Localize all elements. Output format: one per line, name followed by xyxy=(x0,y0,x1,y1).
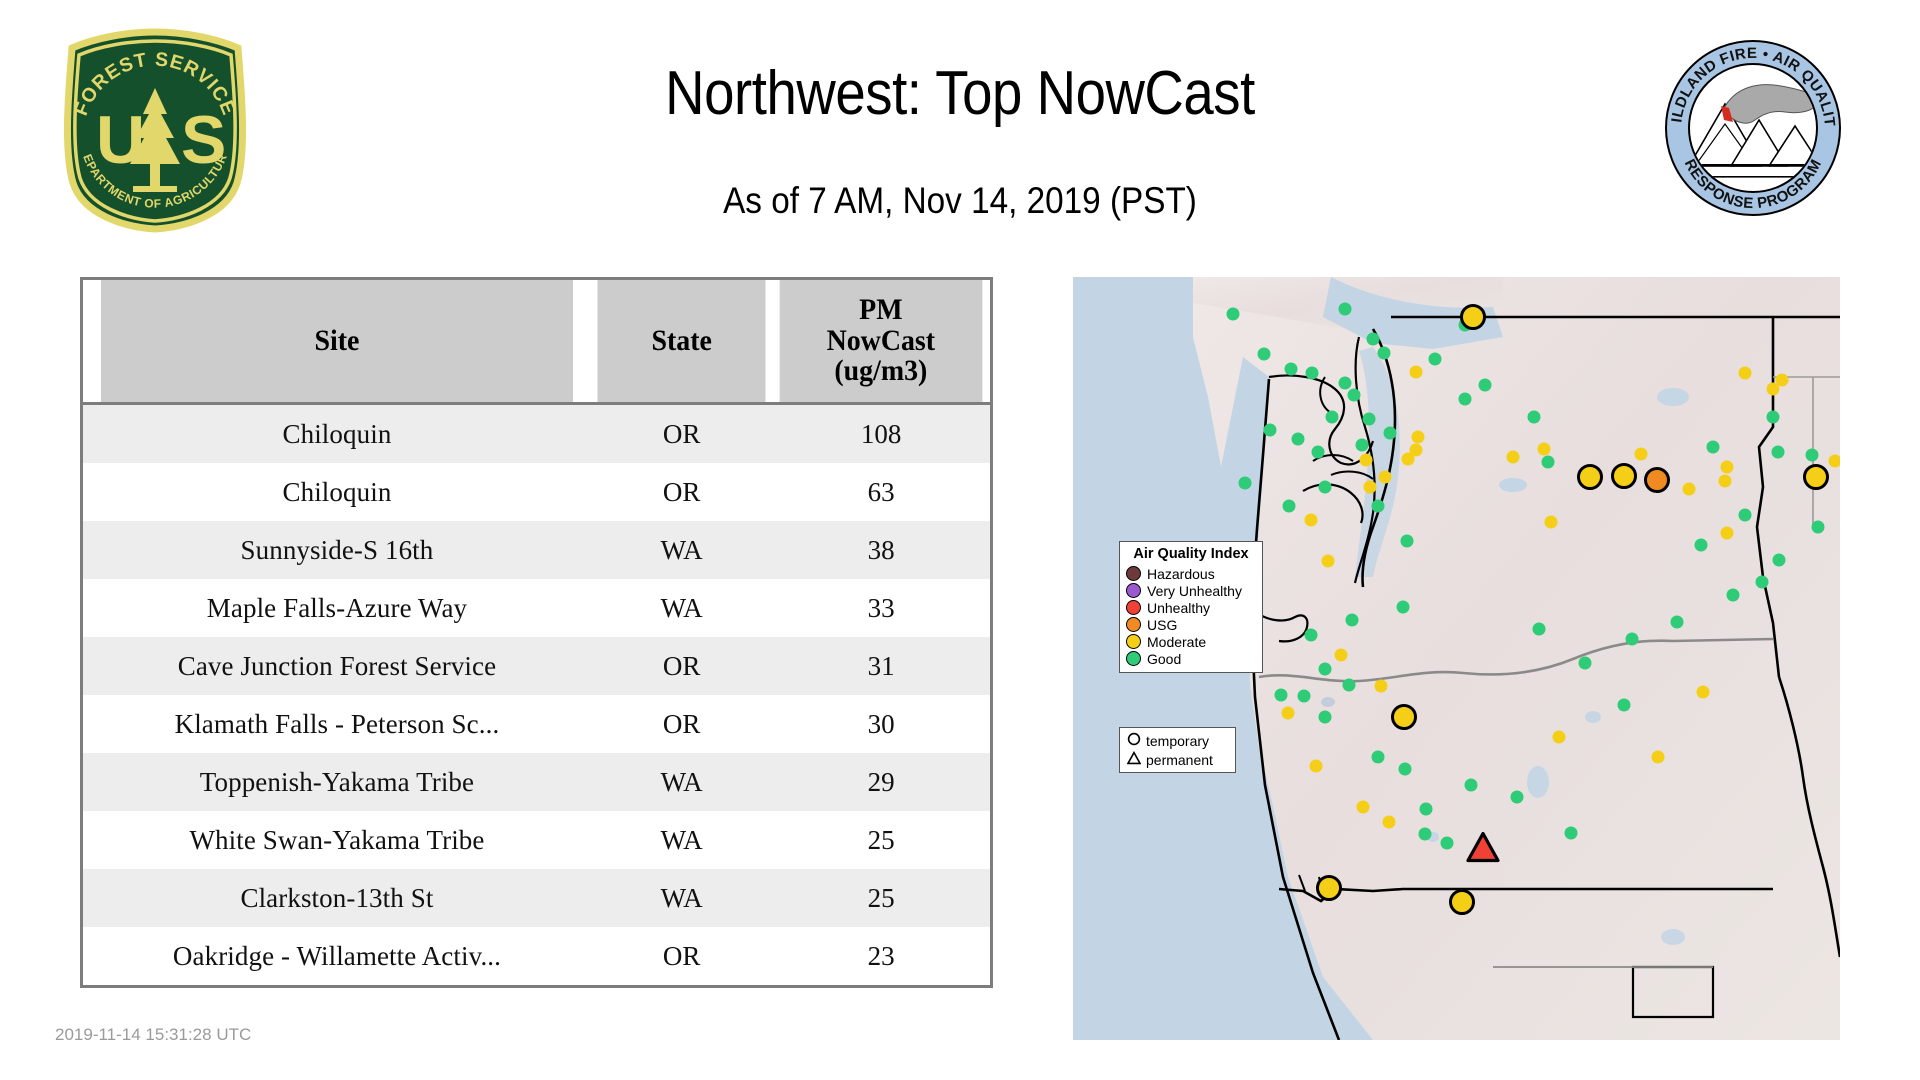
map-monitor-dot xyxy=(1326,411,1339,424)
map-monitor-dot xyxy=(1367,333,1380,346)
aqi-legend-label: Hazardous xyxy=(1147,566,1215,582)
map-monitor-dot xyxy=(1363,413,1376,426)
map-monitor-dot xyxy=(1626,633,1639,646)
map-monitor-dot xyxy=(1322,555,1335,568)
cell-state: OR xyxy=(591,463,772,521)
cell-state: OR xyxy=(591,695,772,753)
map-monitor-dot xyxy=(1776,374,1789,387)
aqi-legend-row: USG xyxy=(1126,616,1256,633)
map-monitor-dot xyxy=(1545,516,1558,529)
map-monitor-dot xyxy=(1285,363,1298,376)
cell-pm: 30 xyxy=(772,695,990,753)
map-monitor-dot xyxy=(1812,521,1825,534)
cell-site: Klamath Falls - Peterson Sc... xyxy=(83,695,591,753)
aqi-swatch-icon xyxy=(1126,600,1141,615)
map-monitor-dot xyxy=(1283,500,1296,513)
table-row: Toppenish-Yakama TribeWA29 xyxy=(83,753,990,811)
monitor-type-legend: temporary permanent xyxy=(1119,727,1236,773)
cell-site: Toppenish-Yakama Tribe xyxy=(83,753,591,811)
map-monitor-dot xyxy=(1383,816,1396,829)
aqi-legend-row: Good xyxy=(1126,650,1256,667)
map-monitor-dot xyxy=(1292,433,1305,446)
top-nowcast-table: Site State PM NowCast (ug/m3) ChiloquinO… xyxy=(80,277,993,988)
cell-state: OR xyxy=(591,404,772,464)
aqi-legend-label: Good xyxy=(1147,651,1181,667)
map-top-site-marker[interactable] xyxy=(1803,464,1829,490)
aqi-legend-row: Very Unhealthy xyxy=(1126,582,1256,599)
map-monitor-dot xyxy=(1739,367,1752,380)
map-monitor-dot xyxy=(1806,449,1819,462)
map-monitor-dot xyxy=(1707,441,1720,454)
map-monitor-dot xyxy=(1298,690,1311,703)
aqi-legend-label: Unhealthy xyxy=(1147,600,1210,616)
map-monitor-dot xyxy=(1372,751,1385,764)
cell-pm: 63 xyxy=(772,463,990,521)
aqi-legend-label: USG xyxy=(1147,617,1177,633)
map-monitor-dot xyxy=(1697,686,1710,699)
aqi-legend-label: Very Unhealthy xyxy=(1147,583,1242,599)
cell-site: Cave Junction Forest Service xyxy=(83,637,591,695)
map-monitor-dot xyxy=(1282,707,1295,720)
map-top-site-marker[interactable] xyxy=(1316,875,1342,901)
map-top-site-marker[interactable] xyxy=(1391,704,1417,730)
map-monitor-dot xyxy=(1441,837,1454,850)
column-header-pm-line3: (ug/m3) xyxy=(784,356,979,387)
map-monitor-dot xyxy=(1227,308,1240,321)
page-title: Northwest: Top NowCast xyxy=(115,58,1805,129)
map-monitor-dot xyxy=(1542,456,1555,469)
map-monitor-dot xyxy=(1410,444,1423,457)
cell-state: WA xyxy=(591,521,772,579)
map-monitor-dot xyxy=(1346,614,1359,627)
map-monitor-dot xyxy=(1829,455,1841,468)
map-monitor-dot xyxy=(1339,303,1352,316)
page-subtitle: As of 7 AM, Nov 14, 2019 (PST) xyxy=(96,180,1824,222)
table-row: Maple Falls-Azure WayWA33 xyxy=(83,579,990,637)
map-monitor-dot xyxy=(1429,353,1442,366)
aqi-legend-label: Moderate xyxy=(1147,634,1206,650)
map-monitor-dot xyxy=(1379,471,1392,484)
map-monitor-dot xyxy=(1683,483,1696,496)
map-monitor-dot xyxy=(1319,663,1332,676)
cell-pm: 108 xyxy=(772,404,990,464)
cell-site: Sunnyside-S 16th xyxy=(83,521,591,579)
map-monitor-dot xyxy=(1339,377,1352,390)
map-monitor-dot xyxy=(1618,699,1631,712)
cell-site: White Swan-Yakama Tribe xyxy=(83,811,591,869)
cell-pm: 23 xyxy=(772,927,990,985)
map-monitor-dot xyxy=(1635,448,1648,461)
map-monitor-dot xyxy=(1419,828,1432,841)
map-monitor-dot xyxy=(1511,791,1524,804)
map-top-site-marker[interactable] xyxy=(1611,463,1637,489)
cell-site: Maple Falls-Azure Way xyxy=(83,579,591,637)
triangle-icon xyxy=(1125,751,1142,768)
map-monitor-dot xyxy=(1348,389,1361,402)
map-monitor-dot xyxy=(1767,411,1780,424)
map-monitor-dot xyxy=(1756,576,1769,589)
map-monitor-dot xyxy=(1721,461,1734,474)
generation-timestamp: 2019-11-14 15:31:28 UTC xyxy=(55,1025,251,1045)
map-monitor-dot xyxy=(1378,347,1391,360)
map-monitor-dot xyxy=(1507,451,1520,464)
cell-site: Oakridge - Willamette Activ... xyxy=(83,927,591,985)
cell-pm: 25 xyxy=(772,811,990,869)
map-monitor-dot xyxy=(1739,509,1752,522)
map-monitor-dot xyxy=(1420,803,1433,816)
map-monitor-dot xyxy=(1372,500,1385,513)
map-monitor-dot xyxy=(1305,629,1318,642)
aqi-swatch-icon xyxy=(1126,651,1141,666)
aqi-swatch-icon xyxy=(1126,634,1141,649)
map-monitor-dot xyxy=(1652,751,1665,764)
map-monitor-dot xyxy=(1533,623,1546,636)
table-header-row: Site State PM NowCast (ug/m3) xyxy=(83,280,990,404)
aqi-legend: Air Quality Index HazardousVery Unhealth… xyxy=(1119,541,1263,673)
map-monitor-dot xyxy=(1401,535,1414,548)
map-monitor-dot xyxy=(1695,539,1708,552)
aqi-swatch-icon xyxy=(1126,566,1141,581)
map-monitor-dot xyxy=(1410,366,1423,379)
table-row: Clarkston-13th StWA25 xyxy=(83,869,990,927)
map-monitor-dot xyxy=(1579,657,1592,670)
map-monitor-dot xyxy=(1364,481,1377,494)
map-monitor-dot xyxy=(1384,427,1397,440)
column-header-pm-line2: NowCast xyxy=(784,326,979,357)
table-row: Klamath Falls - Peterson Sc...OR30 xyxy=(83,695,990,753)
cell-site: Clarkston-13th St xyxy=(83,869,591,927)
map-monitor-dot xyxy=(1719,475,1732,488)
map-monitor-dot xyxy=(1773,554,1786,567)
map-monitor-dot xyxy=(1360,454,1373,467)
cell-pm: 38 xyxy=(772,521,990,579)
map-monitor-dot xyxy=(1375,680,1388,693)
cell-state: WA xyxy=(591,579,772,637)
map-monitor-dot xyxy=(1264,424,1277,437)
map-top-site-marker[interactable] xyxy=(1644,467,1670,493)
map-monitor-dot xyxy=(1671,616,1684,629)
map-top-site-marker[interactable] xyxy=(1577,464,1603,490)
map-monitor-dot xyxy=(1275,689,1288,702)
table-row: Sunnyside-S 16thWA38 xyxy=(83,521,990,579)
legend-row-permanent: permanent xyxy=(1125,750,1230,769)
northwest-aqi-map[interactable]: Air Quality Index HazardousVery Unhealth… xyxy=(1073,277,1840,1040)
map-monitor-dot xyxy=(1479,379,1492,392)
aqi-swatch-icon xyxy=(1126,617,1141,632)
map-monitor-dot xyxy=(1465,779,1478,792)
cell-pm: 29 xyxy=(772,753,990,811)
map-monitor-dot xyxy=(1319,711,1332,724)
cell-pm: 33 xyxy=(772,579,990,637)
map-monitor-dot xyxy=(1565,827,1578,840)
cell-state: OR xyxy=(591,927,772,985)
map-monitor-dot xyxy=(1397,601,1410,614)
map-monitor-dot xyxy=(1772,446,1785,459)
column-header-pm-nowcast: PM NowCast (ug/m3) xyxy=(780,280,982,404)
cell-state: WA xyxy=(591,869,772,927)
column-header-pm-line1: PM xyxy=(784,295,979,326)
cell-site: Chiloquin xyxy=(83,404,591,464)
map-monitor-dot xyxy=(1553,731,1566,744)
map-monitor-dot xyxy=(1335,649,1348,662)
map-top-site-marker[interactable] xyxy=(1460,304,1486,330)
map-monitor-dot xyxy=(1727,589,1740,602)
map-monitor-dot xyxy=(1343,679,1356,692)
table-row: Cave Junction Forest ServiceOR31 xyxy=(83,637,990,695)
map-monitor-dot xyxy=(1412,431,1425,444)
map-monitor-dot xyxy=(1258,348,1271,361)
table-row: ChiloquinOR108 xyxy=(83,404,990,464)
cell-state: OR xyxy=(591,637,772,695)
cell-site: Chiloquin xyxy=(83,463,591,521)
cell-state: WA xyxy=(591,811,772,869)
aqi-legend-row: Hazardous xyxy=(1126,565,1256,582)
table-row: ChiloquinOR63 xyxy=(83,463,990,521)
map-permanent-monitor-marker[interactable] xyxy=(1466,832,1500,869)
map-monitor-dot xyxy=(1305,514,1318,527)
table-row: White Swan-Yakama TribeWA25 xyxy=(83,811,990,869)
map-monitor-dot xyxy=(1528,411,1541,424)
map-monitor-dot xyxy=(1399,763,1412,776)
aqi-legend-title: Air Quality Index xyxy=(1126,546,1256,562)
map-monitor-dot xyxy=(1459,393,1472,406)
legend-label-permanent: permanent xyxy=(1146,752,1213,768)
cell-pm: 25 xyxy=(772,869,990,927)
column-header-site: Site xyxy=(101,280,573,404)
map-monitor-dot xyxy=(1306,367,1319,380)
map-monitor-dot xyxy=(1239,477,1252,490)
legend-row-temporary: temporary xyxy=(1125,731,1230,750)
map-monitor-dot xyxy=(1356,439,1369,452)
aqi-legend-row: Unhealthy xyxy=(1126,599,1256,616)
map-monitor-dot xyxy=(1312,446,1325,459)
map-top-site-marker[interactable] xyxy=(1449,889,1475,915)
map-monitor-dot xyxy=(1319,481,1332,494)
cell-state: WA xyxy=(591,753,772,811)
table-row: Oakridge - Willamette Activ...OR23 xyxy=(83,927,990,985)
map-monitor-dot xyxy=(1721,527,1734,540)
circle-icon xyxy=(1125,732,1142,749)
column-header-state: State xyxy=(597,280,766,404)
map-monitor-dot xyxy=(1310,760,1323,773)
aqi-legend-row: Moderate xyxy=(1126,633,1256,650)
map-monitor-dot xyxy=(1538,443,1551,456)
map-monitor-dot xyxy=(1357,801,1370,814)
aqi-swatch-icon xyxy=(1126,583,1141,598)
cell-pm: 31 xyxy=(772,637,990,695)
legend-label-temporary: temporary xyxy=(1146,733,1209,749)
